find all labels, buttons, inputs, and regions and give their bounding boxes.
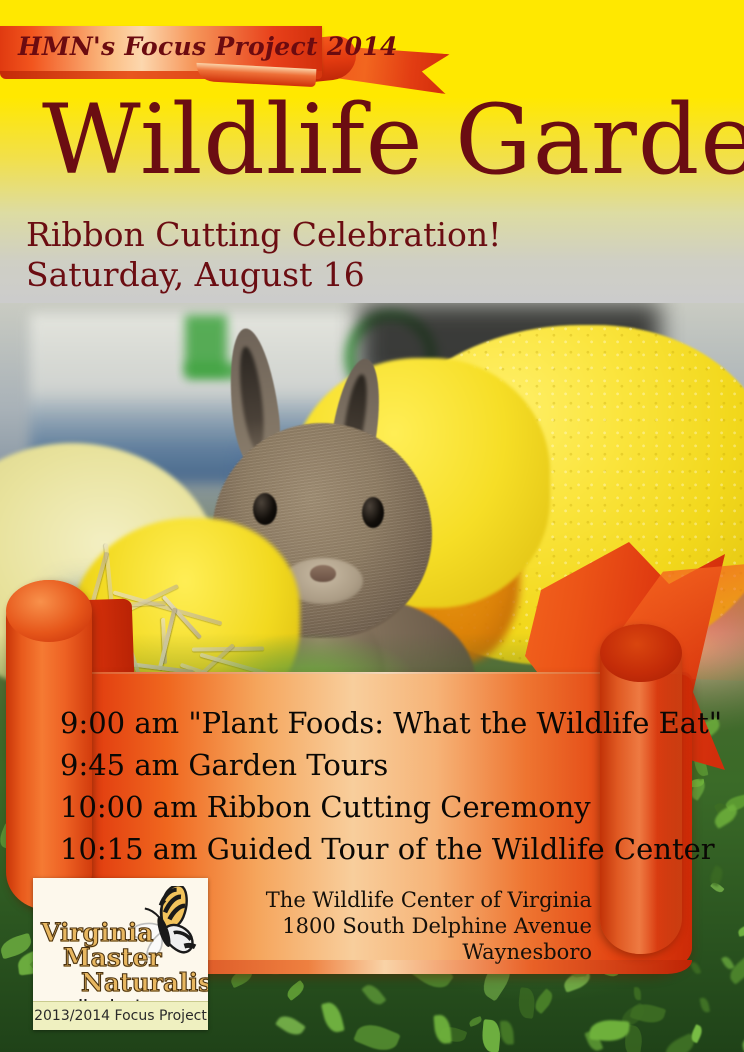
logo-word-naturalist: Naturalist — [81, 970, 176, 995]
poster-canvas: HMN's Focus Project 2014 Wildlife Garden… — [0, 0, 744, 1052]
schedule-row-3: 10:00 am Ribbon Cutting Ceremony — [60, 790, 591, 824]
poster-subtitle-event: Ribbon Cutting Celebration! — [26, 215, 501, 254]
venue-street: 1800 South Delphine Avenue — [282, 914, 592, 938]
poster-subtitle-date: Saturday, August 16 — [26, 255, 365, 294]
venue-name: The Wildlife Center of Virginia — [266, 888, 592, 912]
logo-word-virginia: Virginia — [41, 920, 176, 945]
rabbit-eye-left — [253, 493, 277, 525]
logo-wordmark: Virginia Master Naturalist — [41, 920, 176, 995]
poster-title: Wildlife Garden — [42, 92, 722, 188]
rabbit-eye-right — [362, 497, 384, 528]
scroll-right-curl-cap — [600, 624, 682, 682]
logo-word-master: Master — [63, 945, 176, 970]
scroll-left-curl-cap — [6, 580, 92, 642]
ribbon-banner-text: HMN's Focus Project 2014 — [18, 32, 318, 61]
schedule-row-4: 10:15 am Guided Tour of the Wildlife Cen… — [60, 832, 715, 866]
schedule-row-2: 9:45 am Garden Tours — [60, 748, 388, 782]
schedule-row-1: 9:00 am "Plant Foods: What the Wildlife … — [60, 706, 722, 740]
venue-city: Waynesboro — [462, 940, 592, 964]
virginia-master-naturalist-logo: Virginia Master Naturalist Headwaters Ch… — [33, 878, 208, 1030]
logo-focus-project-bar: 2013/2014 Focus Project — [33, 1001, 208, 1030]
